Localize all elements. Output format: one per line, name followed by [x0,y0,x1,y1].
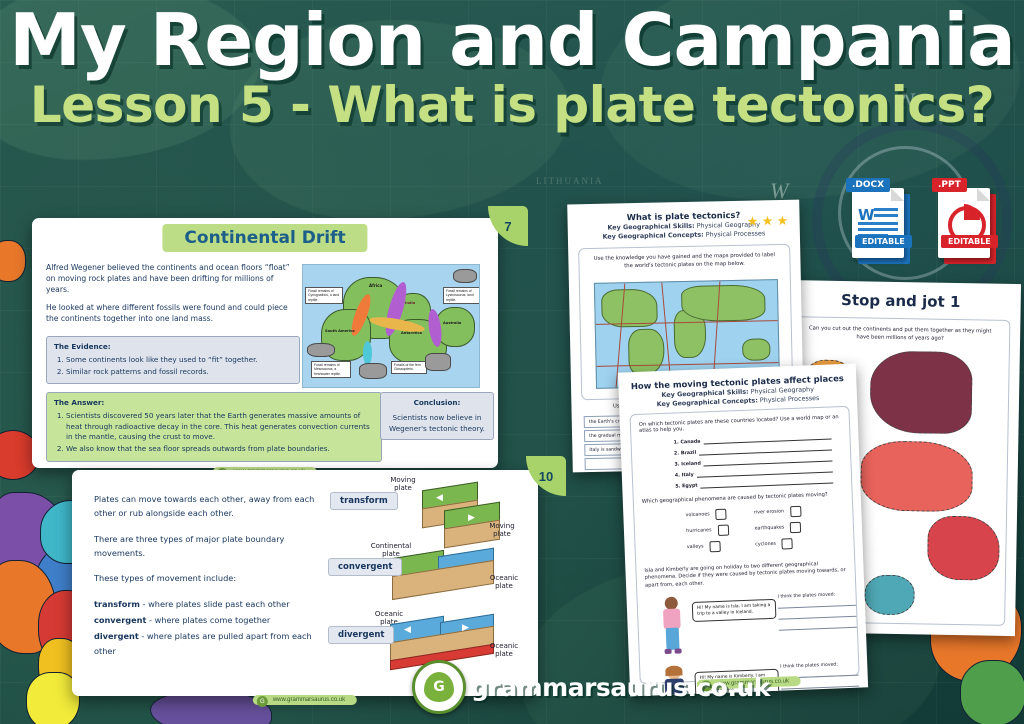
cutout-africa[interactable] [927,516,1000,581]
doc-line [874,208,898,211]
answer-prompt-isla: I think the plates moved: [778,592,856,600]
ws2-country-list[interactable]: 1. Canada 2. Brazil 3. Iceland 4. Italy … [673,433,833,490]
pangaea-label-south-america: South America [325,329,355,333]
avatar-shoe [675,649,682,654]
slide7-evidence-heading: The Evidence: [54,342,111,351]
star-icon: ★ [746,214,759,227]
poster-canvas: IRELAND LITHUANIA N W My Region and Camp… [0,0,1024,724]
slide7-evidence-list: Some continents look like they used to “… [54,355,292,378]
answer-line[interactable] [779,626,857,631]
ws2-checkbox-row[interactable]: valleys [687,541,730,554]
ws2-checkbox-label: volcanoes [686,512,710,518]
avatar-isla [658,596,686,657]
map-label-lithuania: LITHUANIA [536,176,604,186]
ws2-checkbox-row[interactable]: hurricanes [686,525,729,538]
avatar-shoe [665,649,672,654]
convergent-right-caption: Oceanic plate [484,574,524,590]
ws2-country-label: 2. Brazil [674,451,696,457]
page-title: My Region and Campania [0,6,1024,76]
ws2-country-label: 5. Egypt [675,484,698,490]
definition-term: convergent [94,615,146,625]
fossil-label-lystrosaurus: Fossil remains of Lystrosaurus, land rep… [443,287,480,304]
convergent-label: convergent [328,558,402,576]
page-fold-icon [977,188,990,201]
docx-format-tag: .DOCX [846,178,890,192]
slide7-conclusion-heading: Conclusion: [414,398,461,407]
ws2-character-row-isla: Hi! My name is Isla. I am taking a trip … [645,588,849,662]
ws2-checkbox-label: hurricanes [686,528,712,534]
ws3-title: Stop and jot 1 [781,290,1021,312]
ws2-checkbox-label: river erosion [754,509,784,515]
ws2-checkbox-row[interactable]: volcanoes [685,509,728,522]
slide10-paragraph-1: Plates can move towards each other, away… [94,492,334,521]
slide7-answer-box: The Answer: Scientists discovered 50 yea… [46,392,382,462]
slide10-definition-transform: transform - where plates slide past each… [94,597,334,611]
slide7-body: Alfred Wegener believed the continents a… [46,262,294,331]
divergent-right-caption: Oceanic plate [484,642,524,658]
arrow-right-icon: ▶ [462,622,469,633]
divergent-label: divergent [328,626,394,644]
star-icon: ★ [761,214,774,227]
answer-line[interactable] [701,477,834,489]
ws2-checkbox-label: earthquakes [754,525,784,531]
poster-header: My Region and Campania Lesson 5 - What i… [0,6,1024,130]
ppt-editable-tag: EDITABLE [941,235,998,248]
fossil-label-glossopteris: Fossils of the fern Glossopteris. [391,361,427,374]
pangaea-label-antarctica: Antarctica [401,331,422,335]
page-fold-icon [891,188,904,201]
answer-line[interactable] [703,433,831,445]
transform-left-caption: Moving plate [382,476,424,492]
continent-eurasia [681,284,766,322]
ws2-country-label: 1. Canada [674,440,701,446]
slide7-evidence-item: Some continents look like they used to “… [66,355,292,366]
checkbox-hurricanes[interactable] [717,525,728,536]
star-rating: ★ ★ ★ [746,214,789,228]
ws2-concepts-value: Physical Processes [760,394,820,404]
ws2-question-3: Isla and Kimberly are going on holiday t… [644,560,847,590]
avatar-shirt [663,609,681,630]
answer-line[interactable] [778,615,856,620]
worksheet-affect-places[interactable]: How the moving tectonic plates affect pl… [618,364,868,697]
arrow-right-icon: ▶ [468,512,475,523]
slide7-answer-item: We also know that the sea floor spreads … [66,444,374,455]
answer-prompt-kimberly: I think the plates moved: [780,662,858,670]
slide7-answer-list: Scientists discovered 50 years later tha… [54,411,374,455]
ws1-concepts-label: Key Geographical Concepts: [602,231,703,241]
slide10-definition-divergent: divergent - where plates are pulled apar… [94,629,334,658]
checkbox-cyclones[interactable] [782,538,793,549]
answer-line[interactable] [704,455,833,467]
definition-text: - where plates slide past each other [140,599,290,609]
leaf-icon: G [257,696,268,707]
answer-line[interactable] [699,444,832,456]
slide10-paragraph-3: These types of movement include: [94,571,334,585]
avatar-trousers [666,628,680,650]
slide10-footer-url[interactable]: G www.grammarsaurus.co.uk [253,695,357,705]
ppt-format-tag: .PPT [932,178,967,192]
fossil-icon [359,363,387,379]
fossil-label-cynognathus: Fossil remains of Cynognathus, a land re… [305,287,343,304]
checkbox-volcanoes[interactable] [716,509,727,520]
slide7-conclusion-text: Scientists now believe in Wegener's tect… [388,413,486,435]
ws2-panel: On which tectonic plates are these count… [629,406,859,684]
answer-line[interactable] [778,604,856,609]
answer-block-isla[interactable]: I think the plates moved: [778,592,857,631]
pie-slice-icon [964,204,980,220]
arrow-left-icon: ◀ [436,492,443,503]
pangaea-diagram: Africa South America India Antarctica Au… [302,264,480,388]
ws2-country-label: 3. Iceland [674,462,701,468]
ppt-badge[interactable]: .PPT EDITABLE [932,178,998,262]
ws2-checkbox-row[interactable]: cyclones [755,538,803,551]
ws2-country-item[interactable]: 5. Egypt [675,477,833,490]
ws3-instruction: Can you cut out the continents and put t… [807,325,993,344]
ws2-checkbox-grid[interactable]: volcanoes hurricanes valleys river erosi… [634,504,854,560]
page-subtitle: Lesson 5 - What is plate tectonics? [0,80,1024,130]
plate-boundary-line [597,362,779,367]
answer-line[interactable] [697,466,833,478]
slide7-title: Continental Drift [162,224,367,252]
ws1-concepts-value: Physical Processes [706,229,766,238]
slide7-paragraph-2: He looked at where different fossils wer… [46,302,294,324]
slide10-body: Plates can move towards each other, away… [94,492,334,669]
slide7-paragraph-1: Alfred Wegener believed the continents a… [46,262,294,295]
checkbox-valleys[interactable] [709,541,720,552]
slide-number-7: 7 [488,206,528,246]
fossil-icon [425,353,451,371]
slide10-definition-convergent: convergent - where plates come together [94,613,334,627]
ws2-question-2: Which geographical phenomena are caused … [642,491,844,505]
checkbox-river-erosion[interactable] [790,506,801,517]
doc-line [858,222,898,225]
ws2-checkbox-label: cyclones [755,542,776,548]
slide7-evidence-box: The Evidence: Some continents look like … [46,336,300,384]
arrow-left-icon: ◀ [404,624,411,635]
pangaea-label-africa: Africa [369,283,382,288]
cutout-north-america[interactable] [869,351,972,435]
star-icon: ★ [776,214,789,227]
continent-south-america [628,328,665,375]
ws2-checkbox-row[interactable]: earthquakes [754,522,802,535]
footer-url-text: www.grammarsaurus.co.uk [273,697,345,703]
ws1-instruction: Use the knowledge you have gained and th… [589,252,779,271]
ws2-country-label: 4. Italy [675,473,694,479]
fossil-range-cyan [363,341,372,365]
checkbox-earthquakes[interactable] [790,522,801,533]
leaf-icon: G [424,672,454,702]
speech-bubble-isla: Hi! My name is Isla. I am taking a trip … [692,599,777,622]
ws2-checkbox-column-left[interactable]: volcanoes hurricanes valleys [685,509,729,559]
slide-continental-drift[interactable]: 7 Continental Drift Alfred Wegener belie… [32,218,498,468]
docx-badge[interactable]: W .DOCX EDITABLE [846,178,912,262]
ws2-checkbox-row[interactable]: river erosion [754,506,802,519]
fossil-label-mesosaurus: Fossil remains of Mesosaurus, a freshwat… [311,361,351,378]
logo-badge-icon: G [412,660,466,714]
slide7-evidence-item: Similar rock patterns and fossil records… [66,367,292,378]
continent-australia [742,338,770,361]
slide7-answer-heading: The Answer: [54,398,104,407]
pangaea-label-india: India [405,301,415,305]
slide10-paragraph-2: There are three types of major plate bou… [94,532,334,561]
ws2-checkbox-column-right[interactable]: river erosion earthquakes cyclones [754,506,803,556]
ws2-question-1: On which tectonic plates are these count… [639,414,841,434]
brand-name: grammarsaurus.co.uk [471,673,770,702]
doc-line [874,214,898,217]
cutout-eurasia[interactable] [860,440,973,512]
ws2-checkbox-label: valleys [687,545,704,551]
doc-line [858,228,898,231]
fossil-icon [307,343,335,357]
slide7-answer-item: Scientists discovered 50 years later tha… [66,411,374,443]
docx-editable-tag: EDITABLE [855,235,912,248]
pangaea-label-australia: Australia [443,321,461,325]
definition-term: transform [94,599,140,609]
slide7-conclusion-box: Conclusion: Scientists now believe in We… [380,392,494,440]
definition-term: divergent [94,631,139,641]
fossil-icon [453,269,477,283]
definition-text: - where plates come together [146,615,270,625]
transform-right-caption: Moving plate [482,522,522,538]
cutout-australia[interactable] [864,574,915,615]
brand-logo[interactable]: G grammarsaurus.co.uk [412,660,770,714]
slide-number-10: 10 [526,456,566,496]
transform-label: transform [330,492,398,510]
region-polygon [960,660,1024,724]
